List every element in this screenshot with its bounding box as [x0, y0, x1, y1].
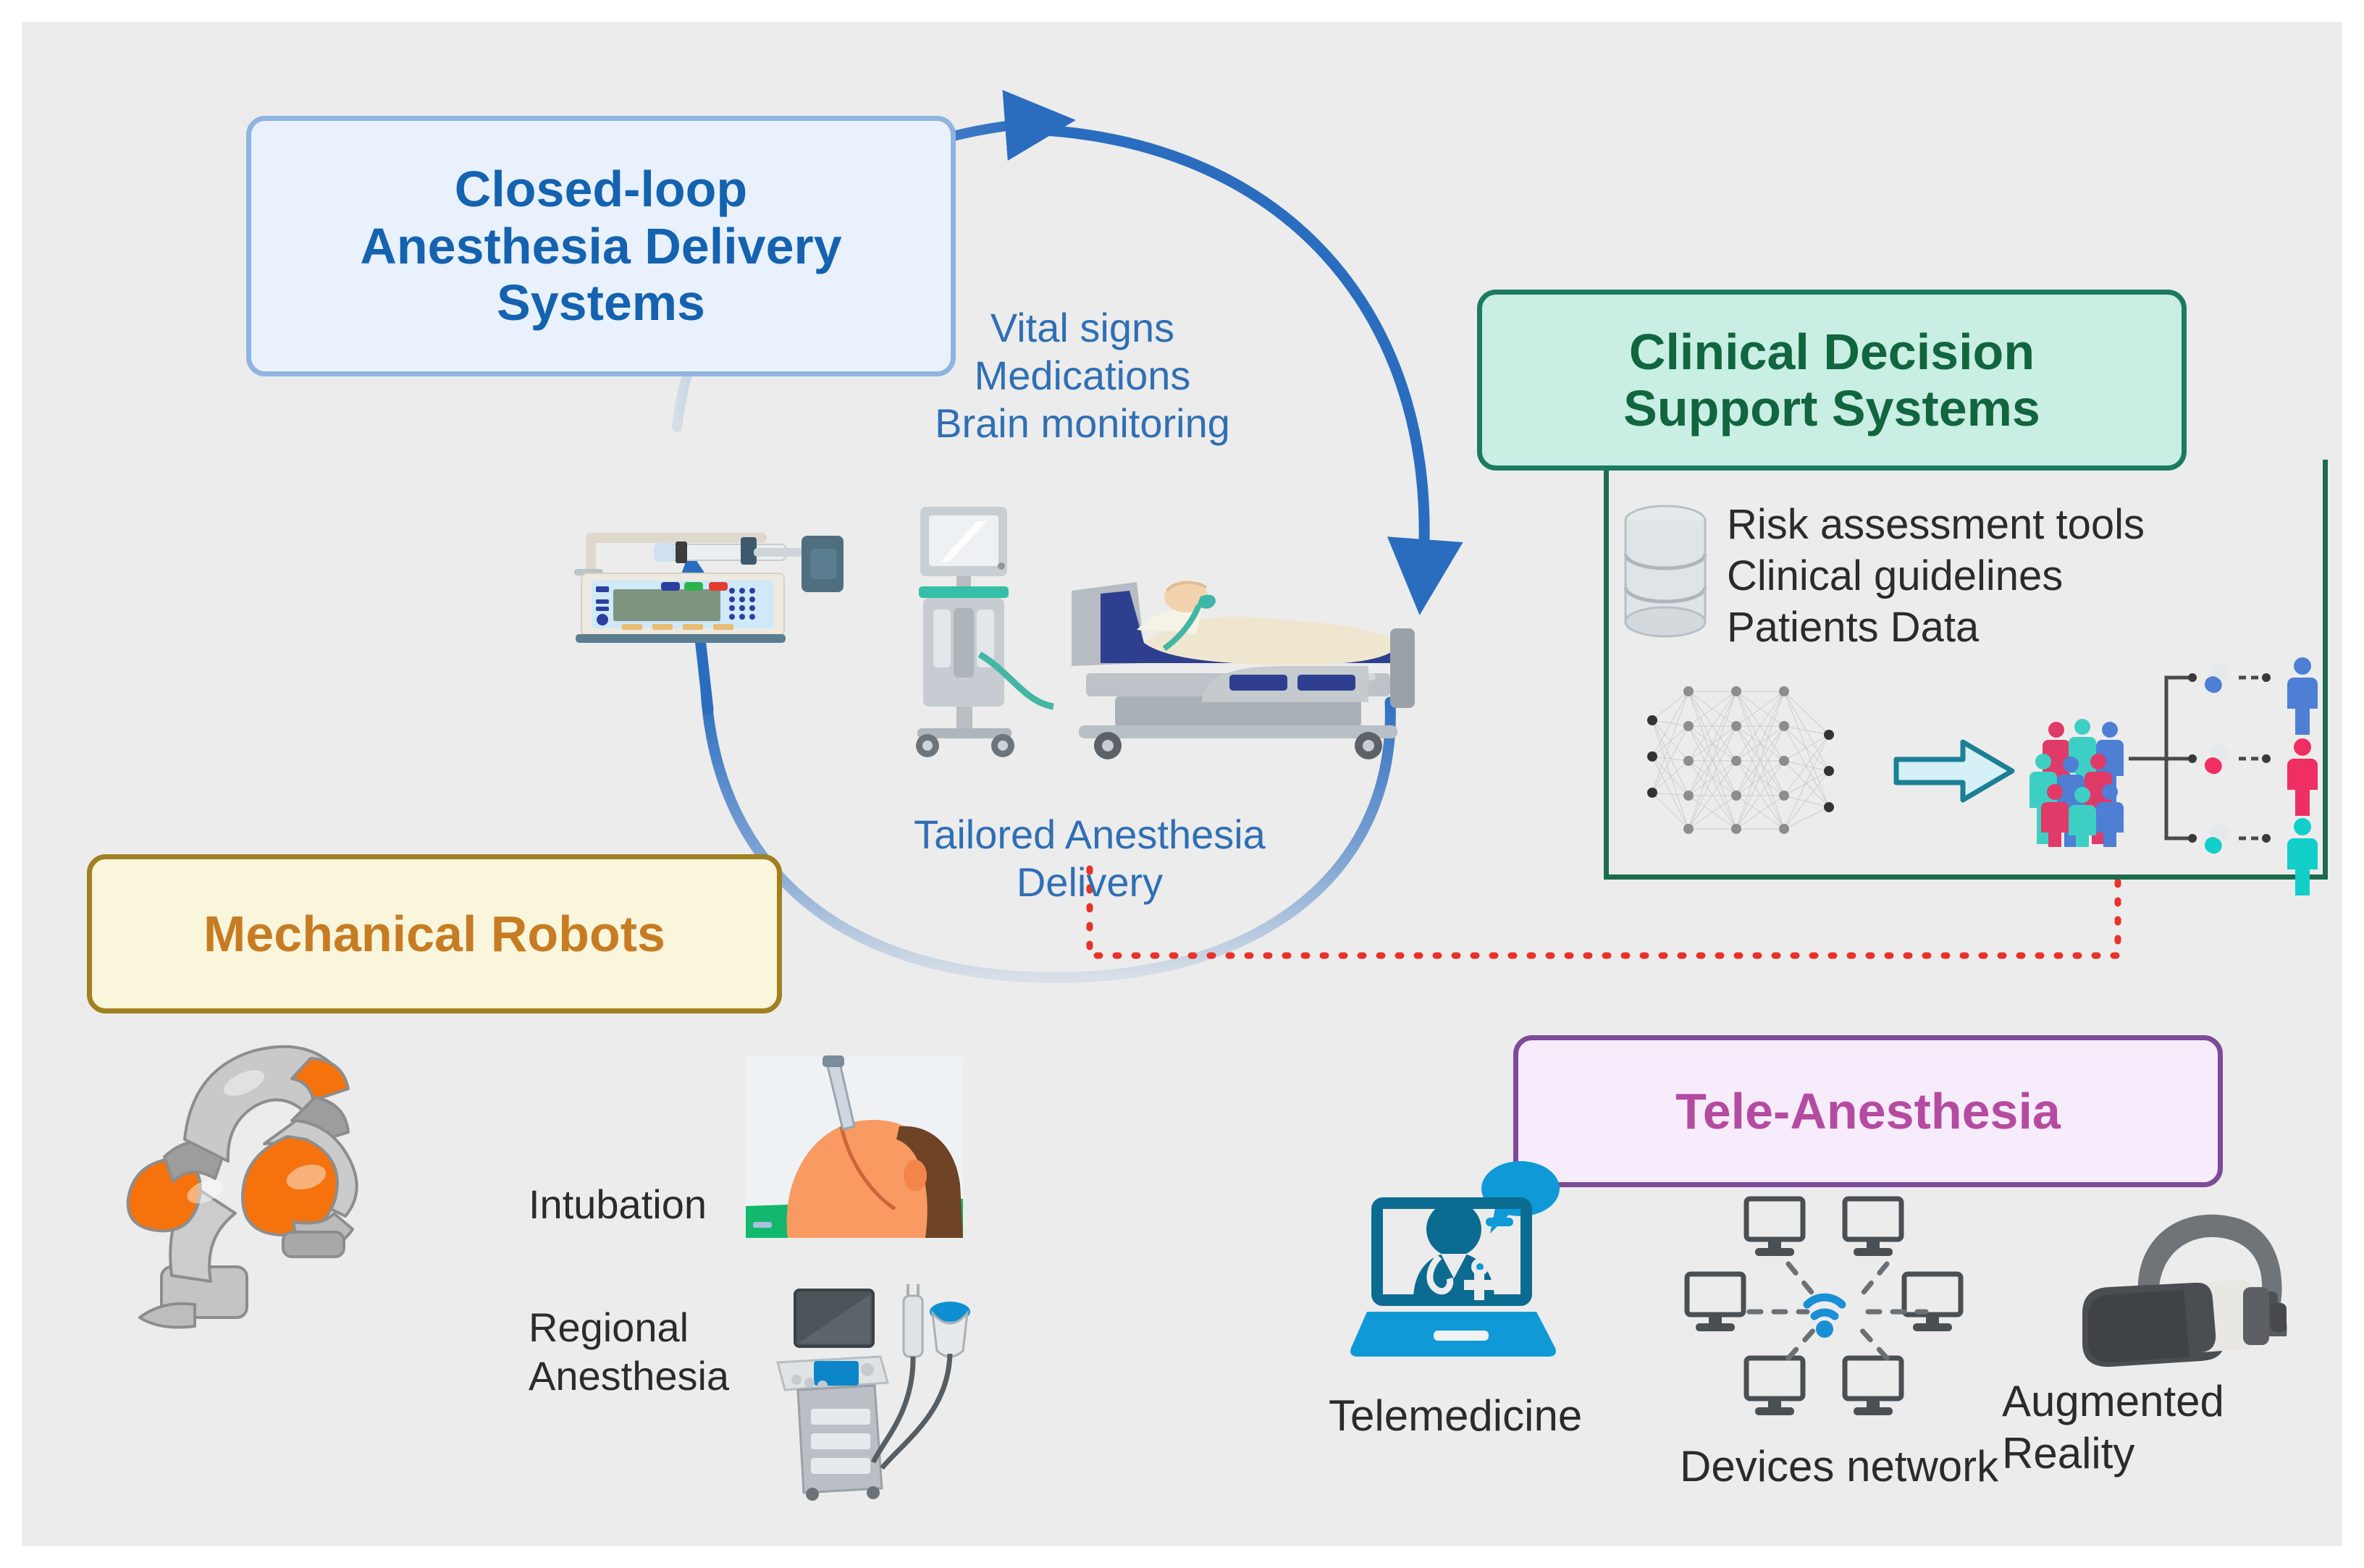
right-arrow-icon — [1893, 735, 2016, 807]
cdss-line2: Support Systems — [1623, 380, 2040, 437]
patient-in-hospital-bed-illustration — [1028, 521, 1448, 760]
cdss-bullet-3: Patients Data — [1727, 602, 2145, 654]
tele-anesthesia-label: Tele-Anesthesia — [1675, 1083, 2061, 1139]
closed-loop-line2: Anesthesia Delivery — [360, 218, 841, 274]
intubation-illustration — [746, 1057, 963, 1238]
regional-anesthesia-label: Regional Anesthesia — [529, 1303, 729, 1400]
telemedicine-label: Telemedicine — [1329, 1390, 1582, 1442]
cdss-line1: Clinical Decision — [1623, 324, 2040, 380]
input-line1: Vital signs — [930, 304, 1234, 352]
ar-headset-icon — [2064, 1194, 2310, 1390]
syringe-infusion-pump-illustration — [568, 514, 872, 644]
tele-anesthesia-title-box[interactable]: Tele-Anesthesia — [1513, 1035, 2223, 1187]
output-line1: Tailored Anesthesia — [887, 811, 1292, 859]
closed-loop-line3: Systems — [360, 274, 841, 331]
treatment-stratification-icon — [2129, 659, 2331, 861]
closed-loop-line1: Closed-loop — [360, 161, 841, 217]
output-line2: Delivery — [887, 859, 1292, 906]
devices-network-label: Devices network — [1680, 1441, 1998, 1493]
devices-network-icon — [1680, 1194, 1969, 1426]
database-cylinder-icon — [1618, 503, 1712, 641]
ultrasound-machine-illustration — [753, 1281, 977, 1499]
robotic-arm-illustration — [76, 1028, 402, 1332]
regional-line2: Anesthesia — [529, 1352, 729, 1400]
mechanical-robots-label: Mechanical Robots — [203, 906, 665, 962]
cdss-title-box[interactable]: Clinical Decision Support Systems — [1477, 290, 2187, 471]
cdss-bullet-1: Risk assessment tools — [1727, 500, 2145, 551]
cdss-bullet-list: Risk assessment tools Clinical guideline… — [1727, 500, 2145, 653]
diagram-canvas: Closed-loop Anesthesia Delivery Systems … — [22, 22, 2342, 1546]
mechanical-robots-title-box[interactable]: Mechanical Robots — [87, 854, 782, 1013]
neural-network-icon — [1644, 677, 1861, 843]
regional-line1: Regional — [529, 1303, 729, 1352]
loop-input-label: Vital signs Medications Brain monitoring — [930, 304, 1234, 447]
loop-output-label: Tailored Anesthesia Delivery — [887, 811, 1292, 906]
input-line2: Medications — [930, 352, 1234, 400]
intubation-label: Intubation — [529, 1180, 707, 1228]
closed-loop-title-box[interactable]: Closed-loop Anesthesia Delivery Systems — [246, 116, 956, 376]
telemedicine-laptop-icon — [1354, 1158, 1571, 1375]
ventilator-monitor-illustration — [901, 500, 1039, 760]
input-line3: Brain monitoring — [930, 400, 1234, 447]
augmented-reality-label: Augmented Reality — [2002, 1375, 2342, 1480]
patient-population-icon — [2035, 717, 2136, 847]
cdss-bullet-2: Clinical guidelines — [1727, 551, 2145, 602]
